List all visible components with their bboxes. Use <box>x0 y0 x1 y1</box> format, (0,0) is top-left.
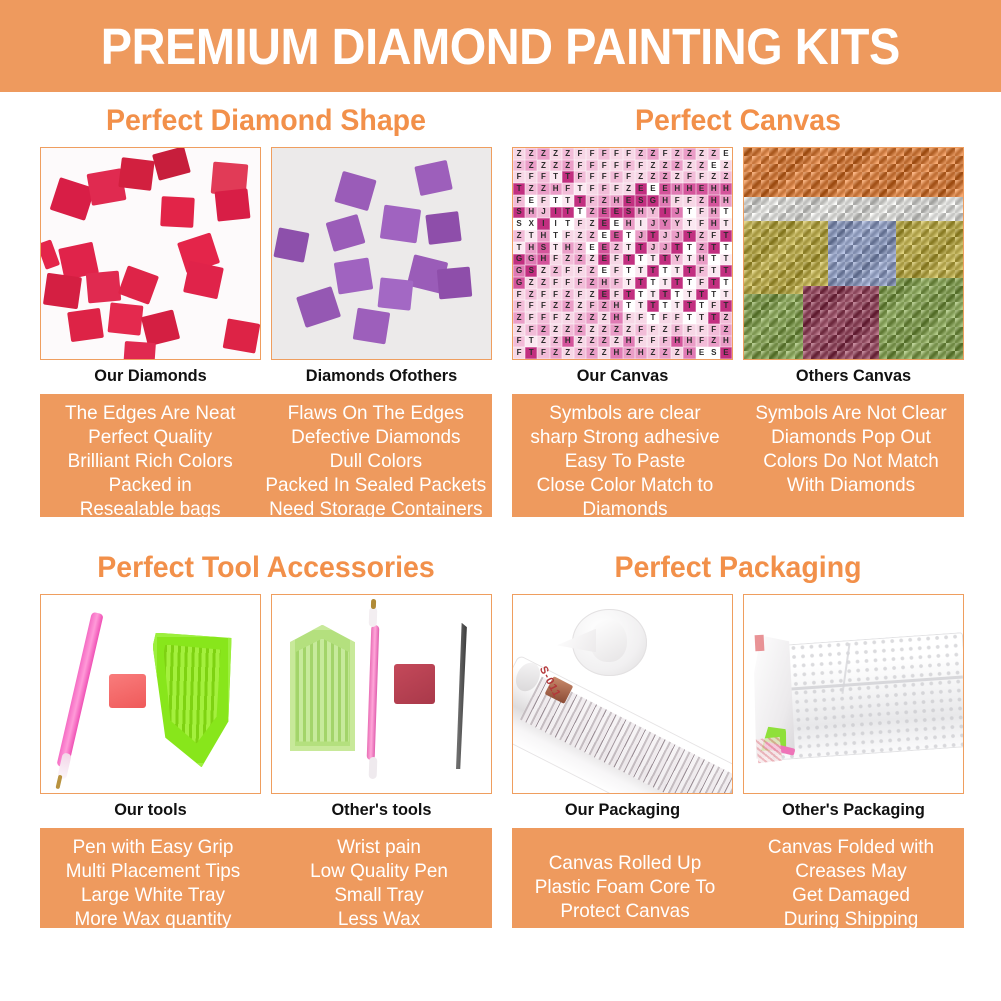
comparison-pair-tools: Our tools <box>40 594 492 820</box>
mosaic-cell <box>744 180 752 188</box>
canvas-symbol-cell: E <box>659 183 671 195</box>
mosaic-cell <box>828 237 836 245</box>
caption-other-tools: Other's tools <box>275 800 487 820</box>
card-other-tools: Other's tools <box>271 594 492 820</box>
comparison-pair-diamond-shape: Our Diamonds <box>40 147 492 386</box>
mosaic-cell <box>744 318 752 326</box>
mosaic-cell <box>887 327 895 335</box>
pink-wax-square-shape <box>109 674 146 708</box>
mosaic-cell <box>929 327 937 335</box>
mosaic-cell <box>828 164 836 172</box>
canvas-symbol-cell: Z <box>598 312 610 324</box>
canvas-symbol-cell: Z <box>562 160 574 172</box>
canvas-symbol-cell: Z <box>537 336 549 348</box>
pale-green-tray-grooves <box>296 639 349 742</box>
canvas-symbol-cell: T <box>683 277 695 289</box>
mosaic-cell <box>744 286 752 294</box>
mosaic-cell <box>803 327 811 335</box>
mosaic-cell <box>828 172 836 180</box>
canvas-symbol-cell: F <box>708 230 720 242</box>
mosaic-cell <box>761 294 769 302</box>
bullet-line: Resealable bags <box>45 497 255 521</box>
mosaic-cell <box>946 237 954 245</box>
canvas-symbol-cell: H <box>610 300 622 312</box>
canvas-symbol-cell: T <box>550 171 562 183</box>
mosaic-cell <box>761 237 769 245</box>
caption-other-packaging: Other's Packaging <box>747 800 959 820</box>
mosaic-cell <box>803 262 811 270</box>
mosaic-cell <box>845 302 853 310</box>
canvas-symbol-cell: Z <box>647 171 659 183</box>
mosaic-cell <box>887 164 895 172</box>
mosaic-cell <box>837 343 845 351</box>
canvas-symbol-cell: F <box>610 148 622 160</box>
mosaic-cell <box>879 237 887 245</box>
mosaic-cell <box>912 318 920 326</box>
mosaic-cell <box>929 286 937 294</box>
canvas-symbol-cell: Y <box>671 218 683 230</box>
mosaic-cell <box>752 213 760 221</box>
canvas-symbol-cell: H <box>525 242 537 254</box>
mosaic-cell <box>778 237 786 245</box>
canvas-symbol-cell: G <box>513 254 525 266</box>
bullets-our-tools: Pen with Easy Grip Multi Placement Tips … <box>40 828 266 928</box>
mosaic-cell <box>946 335 954 343</box>
canvas-symbol-cell: H <box>708 218 720 230</box>
mosaic-cell <box>744 148 752 156</box>
mosaic-cell <box>811 262 819 270</box>
mosaic-cell <box>811 327 819 335</box>
mosaic-cell <box>904 335 912 343</box>
mosaic-cell <box>837 229 845 237</box>
canvas-symbol-cell: H <box>610 195 622 207</box>
canvas-symbol-cell: T <box>708 277 720 289</box>
mosaic-cell <box>845 205 853 213</box>
canvas-symbol-cell: G <box>513 265 525 277</box>
mosaic-cell <box>778 213 786 221</box>
card-our-tools: Our tools <box>40 594 261 820</box>
canvas-symbol-cell: H <box>562 336 574 348</box>
mosaic-cell <box>904 351 912 359</box>
mosaic-cell <box>845 318 853 326</box>
mosaic-cell <box>795 302 803 310</box>
mosaic-cell <box>820 213 828 221</box>
canvas-symbol-cell: Z <box>550 160 562 172</box>
mosaic-cell <box>744 237 752 245</box>
mosaic-cell <box>912 278 920 286</box>
mosaic-cell <box>929 213 937 221</box>
canvas-symbol-cell: Z <box>586 277 598 289</box>
mosaic-cell <box>795 343 803 351</box>
canvas-symbol-cell: F <box>696 324 708 336</box>
mosaic-cell <box>879 302 887 310</box>
mosaic-cell <box>870 294 878 302</box>
mosaic-cell <box>828 351 836 359</box>
mosaic-cell <box>896 335 904 343</box>
bullets-our-packaging: Canvas Rolled Up Plastic Foam Core To Pr… <box>512 828 738 928</box>
mosaic-cell <box>912 335 920 343</box>
mosaic-cell <box>837 205 845 213</box>
mosaic-cell <box>862 327 870 335</box>
canvas-symbol-cell: E <box>525 195 537 207</box>
mosaic-cell <box>845 351 853 359</box>
mosaic-cell <box>904 294 912 302</box>
mosaic-cell <box>862 197 870 205</box>
mosaic-cell <box>938 180 946 188</box>
mosaic-cell <box>921 254 929 262</box>
mosaic-cell <box>862 156 870 164</box>
canvas-symbol-cell: T <box>562 171 574 183</box>
canvas-symbol-cell: E <box>598 265 610 277</box>
mosaic-cell <box>896 351 904 359</box>
canvas-symbol-cell: Z <box>586 336 598 348</box>
canvas-symbol-cell: F <box>586 195 598 207</box>
mosaic-cell <box>761 180 769 188</box>
mosaic-cell <box>896 229 904 237</box>
canvas-symbol-cell: H <box>671 336 683 348</box>
canvas-symbol-cell: F <box>610 171 622 183</box>
mosaic-cell <box>769 148 777 156</box>
bullet-line: Diamonds Pop Out <box>743 425 958 449</box>
mosaic-cell <box>853 189 861 197</box>
bullet-line: Brilliant Rich Colors <box>45 449 255 473</box>
section-title-diamond-shape: Perfect Diamond Shape <box>51 104 480 138</box>
mosaic-cell <box>955 148 963 156</box>
mosaic-cell <box>938 148 946 156</box>
mosaic-cell <box>904 213 912 221</box>
mosaic-cell <box>862 270 870 278</box>
mosaic-cell <box>929 351 937 359</box>
mosaic-cell <box>769 327 777 335</box>
mosaic-cell <box>929 205 937 213</box>
mosaic-cell <box>761 262 769 270</box>
mosaic-cell <box>795 229 803 237</box>
mosaic-cell <box>853 229 861 237</box>
canvas-symbol-cell: J <box>659 242 671 254</box>
mosaic-cell <box>744 270 752 278</box>
bullet-line: Pen with Easy Grip <box>45 835 260 859</box>
page-header-banner: PREMIUM DIAMOND PAINTING KITS <box>0 0 1001 92</box>
canvas-symbol-cell: T <box>525 336 537 348</box>
mosaic-cell <box>769 254 777 262</box>
canvas-symbol-cell: F <box>696 265 708 277</box>
canvas-symbol-cell: Z <box>610 242 622 254</box>
mailer-red-tab <box>755 634 765 650</box>
peeking-canvas-edge <box>756 736 782 762</box>
canvas-symbol-cell: Z <box>635 148 647 160</box>
mosaic-cell <box>786 278 794 286</box>
canvas-symbol-cell: F <box>683 195 695 207</box>
mosaic-cell <box>862 351 870 359</box>
mosaic-cell <box>769 302 777 310</box>
canvas-symbol-cell: Z <box>550 347 562 359</box>
canvas-symbol-cell: F <box>537 312 549 324</box>
mosaic-cell <box>820 180 828 188</box>
mosaic-cell <box>853 148 861 156</box>
mosaic-cell <box>769 335 777 343</box>
canvas-symbol-cell: F <box>623 171 635 183</box>
mosaic-cell <box>879 262 887 270</box>
canvas-symbol-cell: F <box>671 195 683 207</box>
canvas-symbol-cell: F <box>683 171 695 183</box>
mosaic-cell <box>896 278 904 286</box>
bullets-packaging: Canvas Rolled Up Plastic Foam Core To Pr… <box>512 828 964 928</box>
canvas-symbol-cell: F <box>525 171 537 183</box>
canvas-symbol-cell: Z <box>586 207 598 219</box>
bullet-line: With Diamonds <box>743 473 958 497</box>
canvas-symbol-cell: Z <box>659 324 671 336</box>
mosaic-cell <box>912 294 920 302</box>
mosaic-cell <box>896 310 904 318</box>
card-our-canvas: ZZZZZFFFFFZZFZZZZEZZZZZFFFFFFZZZZZEZFFFT… <box>512 147 733 386</box>
mosaic-cell <box>820 189 828 197</box>
canvas-symbol-cell: F <box>513 300 525 312</box>
canvas-symbol-cell: Z <box>598 336 610 348</box>
mosaic-cell <box>853 343 861 351</box>
canvas-symbol-cell: T <box>562 207 574 219</box>
canvas-symbol-cell: Z <box>720 160 732 172</box>
mosaic-cell <box>912 213 920 221</box>
mosaic-cell <box>769 343 777 351</box>
mosaic-cell <box>929 310 937 318</box>
mosaic-cell <box>795 278 803 286</box>
mosaic-cell <box>946 294 954 302</box>
thin-pen-metal-tip-icon <box>370 599 375 609</box>
mosaic-cell <box>929 229 937 237</box>
mosaic-cell <box>752 318 760 326</box>
page-title: PREMIUM DIAMOND PAINTING KITS <box>101 17 900 76</box>
mosaic-cell <box>761 229 769 237</box>
canvas-symbol-cell: T <box>513 183 525 195</box>
bullet-line: Large White Tray <box>45 883 260 907</box>
mosaic-cell <box>870 302 878 310</box>
mosaic-cell <box>803 229 811 237</box>
mosaic-cell <box>912 164 920 172</box>
mosaic-cell <box>870 245 878 253</box>
canvas-symbol-cell: T <box>623 265 635 277</box>
canvas-symbol-cell: E <box>598 207 610 219</box>
mosaic-cell <box>938 172 946 180</box>
mosaic-cell <box>879 310 887 318</box>
canvas-symbol-cell: Z <box>574 347 586 359</box>
mosaic-cell <box>820 164 828 172</box>
mosaic-cell <box>778 270 786 278</box>
mosaic-cell <box>912 221 920 229</box>
mosaic-cell <box>912 286 920 294</box>
mosaic-cell <box>929 343 937 351</box>
mosaic-cell <box>887 245 895 253</box>
canvas-symbol-cell: F <box>610 265 622 277</box>
mosaic-cell <box>955 294 963 302</box>
mosaic-cell <box>744 278 752 286</box>
mosaic-cell <box>946 156 954 164</box>
mosaic-cell <box>929 318 937 326</box>
canvas-symbol-cell: F <box>683 324 695 336</box>
mosaic-cell <box>929 254 937 262</box>
canvas-symbol-cell: F <box>537 289 549 301</box>
bullet-line: Dull Colors <box>266 449 487 473</box>
mosaic-cell <box>896 205 904 213</box>
mosaic-cell <box>938 213 946 221</box>
canvas-symbol-cell: F <box>513 336 525 348</box>
canvas-symbol-cell: T <box>659 300 671 312</box>
mosaic-cell <box>946 327 954 335</box>
mosaic-cell <box>938 286 946 294</box>
mosaic-cell <box>938 294 946 302</box>
canvas-symbol-cell: Z <box>562 300 574 312</box>
mosaic-cell <box>879 197 887 205</box>
mosaic-cell <box>769 310 777 318</box>
canvas-symbol-cell: T <box>659 265 671 277</box>
mosaic-cell <box>946 270 954 278</box>
bullets-our-canvas: Symbols are clear sharp Strong adhesive … <box>512 394 738 517</box>
canvas-symbol-cell: Z <box>586 289 598 301</box>
canvas-symbol-cell: T <box>683 312 695 324</box>
mosaic-cell <box>752 310 760 318</box>
canvas-symbol-cell: I <box>537 218 549 230</box>
bullets-our-diamonds: The Edges Are Neat Perfect Quality Brill… <box>40 394 260 517</box>
canvas-symbol-cell: T <box>647 300 659 312</box>
canvas-symbol-cell: T <box>720 230 732 242</box>
canvas-symbol-cell: S <box>513 218 525 230</box>
mosaic-cell <box>946 197 954 205</box>
canvas-symbol-cell: Z <box>586 254 598 266</box>
canvas-symbol-cell: Z <box>696 160 708 172</box>
mosaic-cell <box>786 180 794 188</box>
mosaic-cell <box>795 237 803 245</box>
mosaic-cell <box>879 205 887 213</box>
mosaic-cell <box>803 310 811 318</box>
canvas-symbol-cell: Z <box>574 324 586 336</box>
mosaic-cell <box>862 189 870 197</box>
mosaic-cell <box>887 229 895 237</box>
canvas-symbol-cell: T <box>647 230 659 242</box>
mosaic-cell <box>820 270 828 278</box>
mosaic-cell <box>853 335 861 343</box>
mosaic-cell <box>828 156 836 164</box>
canvas-symbol-cell: F <box>513 289 525 301</box>
canvas-symbol-cell: H <box>720 336 732 348</box>
mosaic-cell <box>853 164 861 172</box>
mosaic-cell <box>795 254 803 262</box>
mosaic-cell <box>904 262 912 270</box>
mosaic-cell <box>896 302 904 310</box>
mosaic-cell <box>896 164 904 172</box>
mosaic-cell <box>896 294 904 302</box>
mosaic-cell <box>761 221 769 229</box>
mosaic-cell <box>811 245 819 253</box>
mosaic-cell <box>744 205 752 213</box>
mosaic-cell <box>786 254 794 262</box>
mosaic-cell <box>769 197 777 205</box>
mosaic-cell <box>921 229 929 237</box>
canvas-symbol-cell: Z <box>659 347 671 359</box>
canvas-symbol-cell: H <box>720 195 732 207</box>
mosaic-cell <box>879 278 887 286</box>
mosaic-cell <box>921 318 929 326</box>
canvas-symbol-cell: E <box>610 218 622 230</box>
thin-pen-ferrule <box>369 607 377 627</box>
canvas-symbol-cell: S <box>635 195 647 207</box>
mosaic-cell <box>778 180 786 188</box>
canvas-symbol-cell: Z <box>513 160 525 172</box>
mosaic-cell <box>828 189 836 197</box>
mosaic-cell <box>820 351 828 359</box>
mosaic-cell <box>921 351 929 359</box>
mosaic-cell <box>896 270 904 278</box>
mosaic-cell <box>786 205 794 213</box>
mosaic-cell <box>946 180 954 188</box>
bullets-other-diamonds: Flaws On The Edges Defective Diamonds Du… <box>260 394 492 517</box>
section-title-packaging: Perfect Packaging <box>523 551 952 585</box>
mosaic-cell <box>744 245 752 253</box>
mosaic-cell <box>795 286 803 294</box>
canvas-symbol-cell: Z <box>586 347 598 359</box>
canvas-symbol-cell: T <box>550 242 562 254</box>
mosaic-cell <box>828 221 836 229</box>
mosaic-cell <box>744 254 752 262</box>
canvas-symbol-cell: T <box>574 195 586 207</box>
mosaic-cell <box>803 164 811 172</box>
mosaic-cell <box>921 335 929 343</box>
mosaic-cell <box>795 327 803 335</box>
mosaic-cell <box>870 335 878 343</box>
mosaic-cell <box>896 262 904 270</box>
mosaic-cell <box>752 237 760 245</box>
mosaic-cell <box>896 148 904 156</box>
mosaic-cell <box>811 335 819 343</box>
photo-our-tools <box>40 594 261 794</box>
mosaic-cell <box>761 270 769 278</box>
mosaic-cell <box>761 156 769 164</box>
mosaic-cell <box>744 343 752 351</box>
mosaic-cell <box>887 221 895 229</box>
canvas-symbol-cell: F <box>586 183 598 195</box>
mosaic-cell <box>946 148 954 156</box>
canvas-symbol-cell: E <box>635 183 647 195</box>
canvas-symbol-cell: Z <box>647 347 659 359</box>
mosaic-cell <box>955 172 963 180</box>
mosaic-cell <box>896 156 904 164</box>
mosaic-cell <box>929 197 937 205</box>
mosaic-cell <box>845 327 853 335</box>
caption-our-packaging: Our Packaging <box>516 800 728 820</box>
bullet-line: Packed in <box>45 473 255 497</box>
canvas-symbol-cell: Z <box>574 336 586 348</box>
mosaic-cell <box>946 254 954 262</box>
mosaic-cell <box>938 254 946 262</box>
mosaic-cell <box>837 262 845 270</box>
canvas-symbol-cell: F <box>550 277 562 289</box>
mosaic-cell <box>752 229 760 237</box>
canvas-symbol-cell: Y <box>647 207 659 219</box>
mosaic-cell <box>853 302 861 310</box>
mosaic-cell <box>778 229 786 237</box>
canvas-symbol-cell: Z <box>574 300 586 312</box>
mosaic-cell <box>828 335 836 343</box>
mosaic-cell <box>904 302 912 310</box>
canvas-symbol-cell: Z <box>513 324 525 336</box>
photo-other-tools <box>271 594 492 794</box>
pink-symbol-grid-artwork: ZZZZZFFFFFZZFZZZZEZZZZZFFFFFFZZZZZEZFFFT… <box>513 148 732 359</box>
section-title-tools: Perfect Tool Accessories <box>51 551 480 585</box>
mosaic-cell <box>811 310 819 318</box>
mosaic-cell <box>862 343 870 351</box>
mosaic-cell <box>837 189 845 197</box>
mosaic-cell <box>870 164 878 172</box>
mosaic-cell <box>744 229 752 237</box>
mosaic-cell <box>938 262 946 270</box>
